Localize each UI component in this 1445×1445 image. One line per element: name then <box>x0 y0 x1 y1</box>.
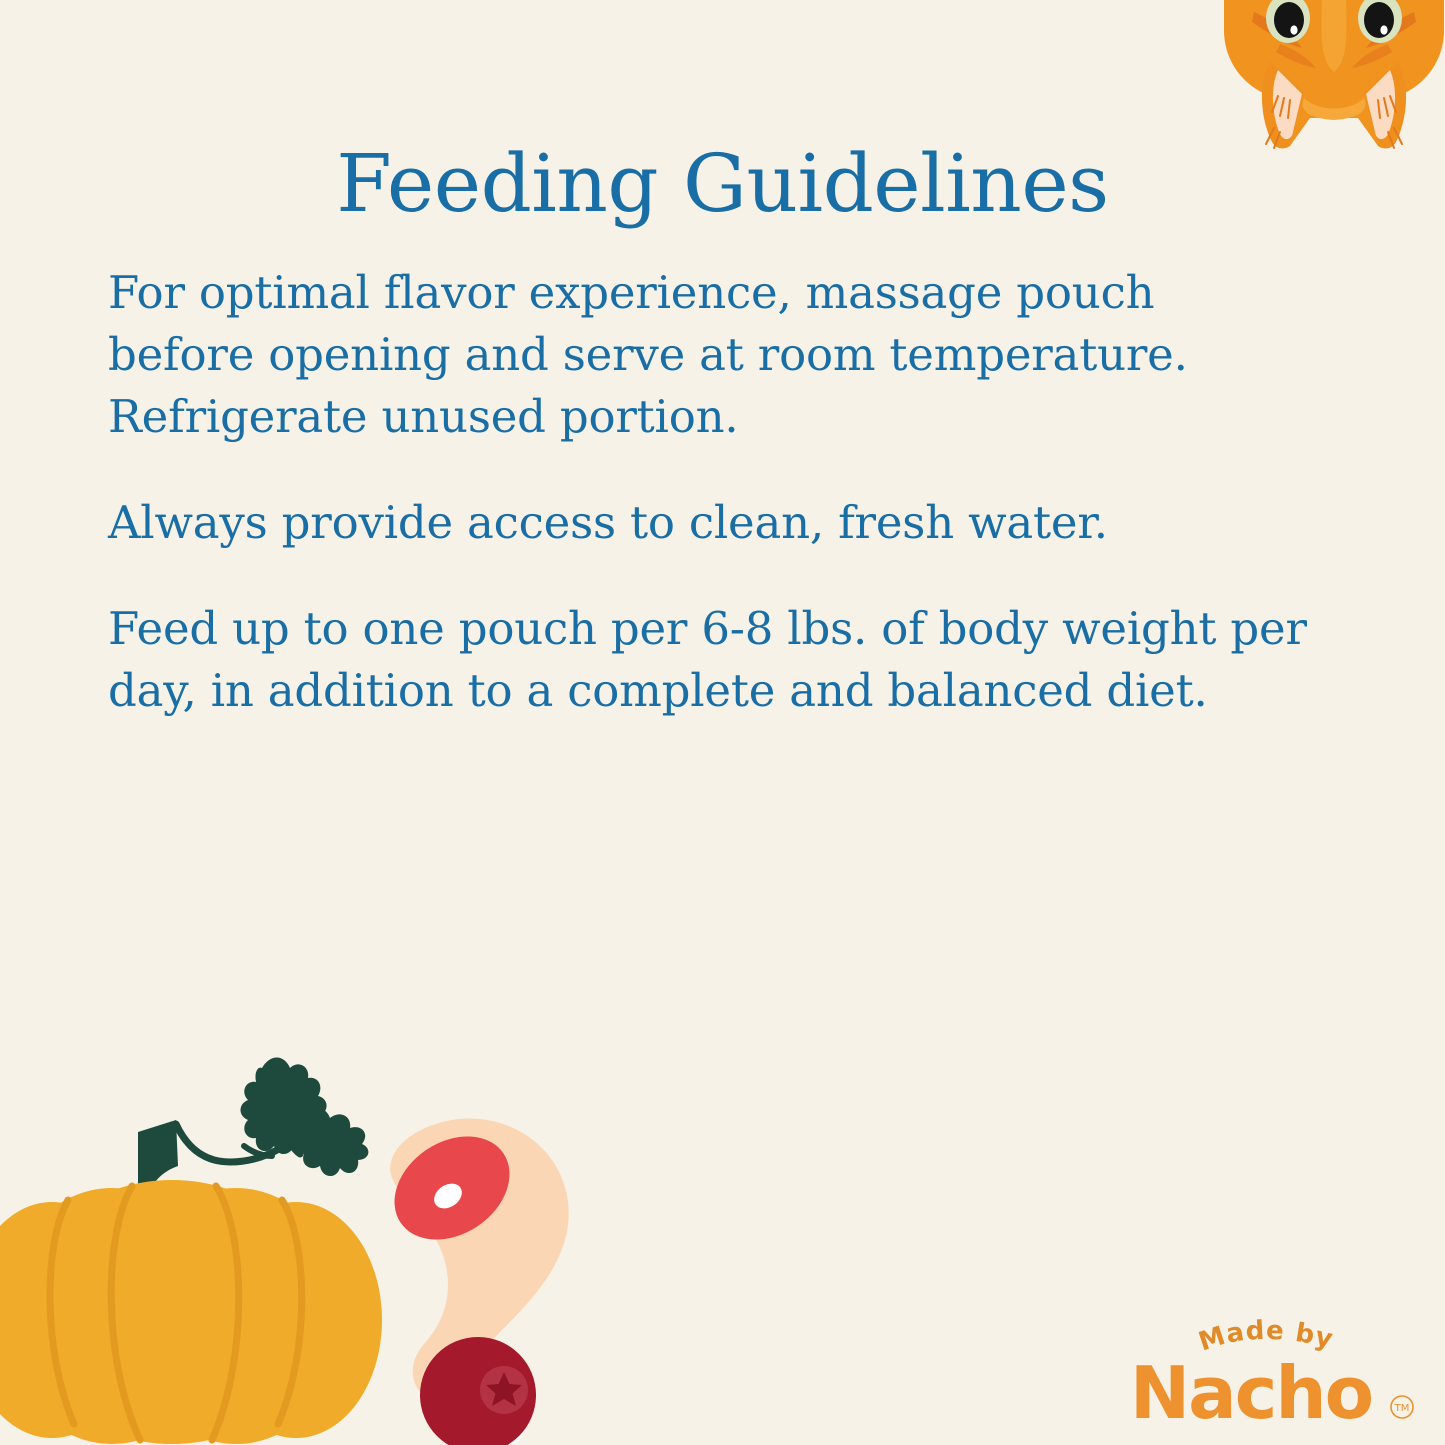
instruction-paragraph-1: For optimal flavor experience, massage p… <box>108 262 1228 448</box>
cat-right-eye-glint <box>1380 25 1387 34</box>
turkey-drumstick-flesh <box>390 1119 568 1404</box>
logo-made-by-text: Made by <box>1195 1316 1337 1358</box>
pumpkin-ribs <box>50 1186 302 1440</box>
cranberry <box>420 1337 536 1445</box>
cat-left-inner-ear <box>1273 70 1302 139</box>
cat-right-inner-ear <box>1366 70 1395 139</box>
feeding-instructions: For optimal flavor experience, massage p… <box>108 262 1358 722</box>
cat-left-cheek-stripe <box>1276 44 1316 68</box>
pumpkin-leaf-secondary-vein <box>304 1142 334 1152</box>
cranberry-blossom-ring <box>480 1366 528 1414</box>
cranberry-blossom-star <box>486 1372 522 1406</box>
cat-left-brow-stripe <box>1252 12 1302 48</box>
pumpkin-stem <box>138 1120 178 1192</box>
cat-left-eye-pupil <box>1274 2 1304 38</box>
pumpkin-body <box>0 1180 382 1444</box>
turkey-drumstick-meat-highlight <box>429 1178 466 1213</box>
turkey-drumstick-bone <box>442 1340 524 1445</box>
cat-right-eye-pupil <box>1364 2 1394 38</box>
cat-left-eye-glint <box>1290 25 1297 34</box>
produce-illustration <box>0 1020 700 1445</box>
cat-left-eye-sclera <box>1266 0 1310 43</box>
pumpkin-leaf-stalk <box>284 1128 300 1154</box>
page-title: Feeding Guidelines <box>0 142 1445 226</box>
pumpkin-leaf-secondary <box>297 1108 369 1176</box>
pumpkin-leaf-main <box>241 1058 327 1155</box>
cat-left-ear <box>1262 62 1304 148</box>
cat-right-ear <box>1364 62 1406 148</box>
cat-whisker-tufts <box>1266 96 1402 148</box>
feeding-guidelines-panel: Feeding Guidelines For optimal flavor ex… <box>0 0 1445 1445</box>
instruction-paragraph-3: Feed up to one pouch per 6-8 lbs. of bod… <box>108 598 1358 722</box>
logo-trademark-text: TM <box>1394 1403 1410 1414</box>
pumpkin-sprig <box>244 1146 272 1156</box>
turkey-drumstick-meat-patch <box>375 1115 529 1261</box>
cat-head-shape <box>1224 0 1444 148</box>
made-by-nacho-logo: Made by Nacho TM <box>1079 1310 1429 1435</box>
cat-right-brow-stripe <box>1366 12 1416 48</box>
logo-trademark: TM <box>1391 1396 1413 1418</box>
cat-muzzle <box>1303 98 1366 120</box>
cranberry-body <box>420 1337 536 1445</box>
cat-right-cheek-stripe <box>1352 44 1392 68</box>
logo-brand-name: Nacho <box>1130 1351 1372 1435</box>
turkey-drumstick <box>375 1115 569 1444</box>
instruction-paragraph-2: Always provide access to clean, fresh wa… <box>108 492 1358 554</box>
pumpkin-vine <box>176 1124 300 1162</box>
cat-right-eye-sclera <box>1358 0 1402 43</box>
cat-nose-bridge <box>1322 0 1347 72</box>
cat-illustration <box>1218 0 1445 150</box>
